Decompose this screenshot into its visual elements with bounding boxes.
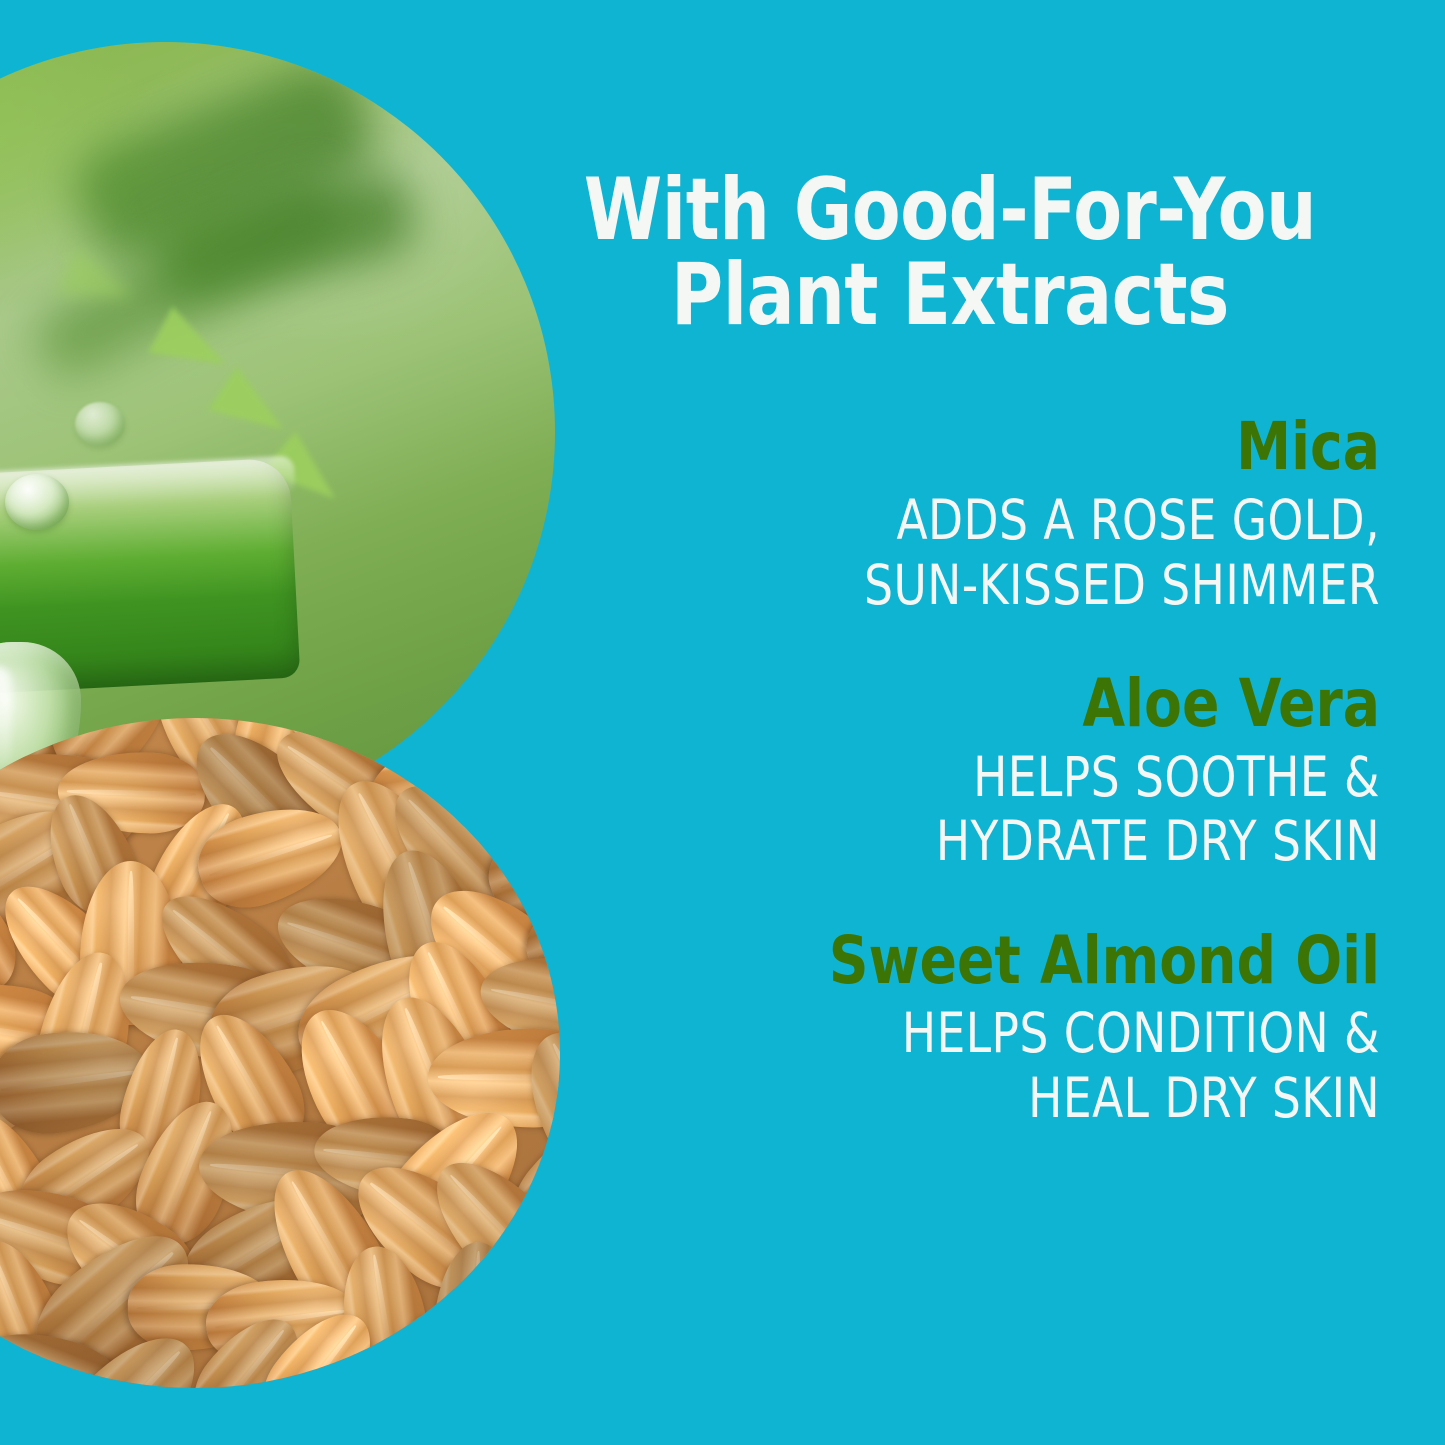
almonds-photo: [0, 718, 560, 1388]
ingredient-description: HELPS SOOTHE & HYDRATE DRY SKIN: [589, 745, 1380, 874]
ingredient-description-line-1: ADDS A ROSE GOLD,: [589, 488, 1380, 552]
water-droplet: [75, 402, 125, 446]
ingredient-description-line-1: HELPS SOOTHE &: [589, 745, 1380, 809]
ingredient-item-sweet-almond-oil: Sweet Almond Oil HELPS CONDITION & HEAL …: [520, 926, 1380, 1131]
page-title: With Good-For-You Plant Extracts: [554, 0, 1345, 338]
headline-line-2: Plant Extracts: [554, 253, 1345, 338]
aloe-vera-photo: [0, 42, 555, 822]
almonds-photo-art: [0, 718, 560, 1388]
text-column: With Good-For-You Plant Extracts Mica AD…: [520, 0, 1380, 1445]
headline-line-1: With Good-For-You: [554, 168, 1345, 253]
ingredient-name: Aloe Vera: [580, 669, 1380, 739]
ingredient-description-line-1: HELPS CONDITION &: [589, 1001, 1380, 1065]
ingredient-item-aloe-vera: Aloe Vera HELPS SOOTHE & HYDRATE DRY SKI…: [520, 669, 1380, 874]
ingredient-name: Sweet Almond Oil: [580, 926, 1380, 996]
ingredient-description: ADDS A ROSE GOLD, SUN-KISSED SHIMMER: [589, 488, 1380, 617]
ingredient-description: HELPS CONDITION & HEAL DRY SKIN: [589, 1001, 1380, 1130]
ingredient-description-line-2: HYDRATE DRY SKIN: [589, 809, 1380, 873]
ingredient-description-line-2: SUN-KISSED SHIMMER: [589, 553, 1380, 617]
ingredient-name: Mica: [580, 412, 1380, 482]
ingredient-item-mica: Mica ADDS A ROSE GOLD, SUN-KISSED SHIMME…: [520, 412, 1380, 617]
water-droplet: [5, 474, 69, 530]
aloe-vera-photo-art: [0, 42, 555, 822]
ingredient-description-line-2: HEAL DRY SKIN: [589, 1066, 1380, 1130]
product-benefits-poster: With Good-For-You Plant Extracts Mica AD…: [0, 0, 1445, 1445]
aloe-leaf-spike: [208, 367, 298, 451]
ingredient-list: Mica ADDS A ROSE GOLD, SUN-KISSED SHIMME…: [520, 338, 1380, 1130]
